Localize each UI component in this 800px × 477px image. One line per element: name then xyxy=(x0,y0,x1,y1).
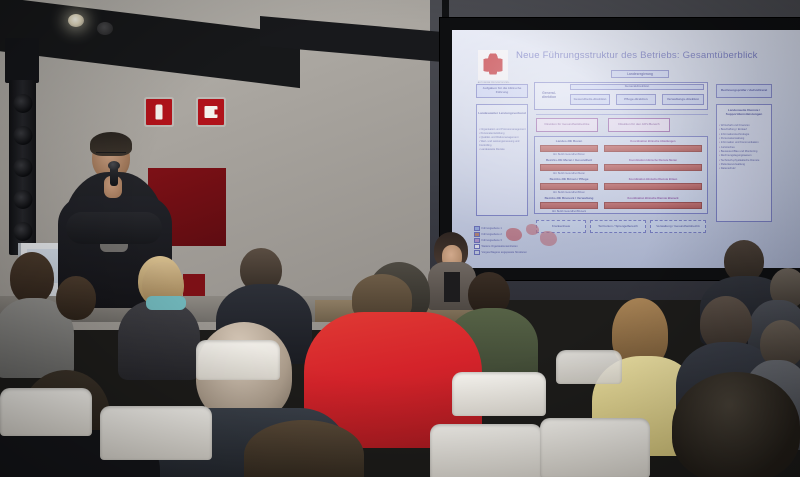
inner-top xyxy=(444,272,460,302)
slide-box-landesregierung: Landesregierung xyxy=(611,70,669,78)
slide-left-panel-header: Landesweiter Leistungsverbund xyxy=(477,106,527,122)
slide-generaldirektion-header: Generaldirektion xyxy=(570,84,704,90)
slide-row-0-right-label: Koordination klinische Abteilungen xyxy=(604,139,702,144)
slide-bottom-2: Verwaltung / Gesundheitsbezirk xyxy=(650,220,706,233)
slide-subdir-2: Verwaltungs-direktion xyxy=(662,94,704,105)
south-tyrol-eagle-crest xyxy=(478,50,508,80)
slide-right-header: Rechnungsprüfer / Aufsichtsrat xyxy=(716,84,772,98)
slide-bottom-1: Territorium / Sprengelbereich xyxy=(590,220,646,233)
chair[interactable] xyxy=(540,418,650,477)
slide-right-items: Wirtschaft und Finanzen Beschaffung / Ei… xyxy=(719,124,771,171)
teal-scarf xyxy=(146,296,186,310)
chair[interactable] xyxy=(0,388,92,436)
slide-row-0-label: Landes-OE Bozen xyxy=(540,139,598,144)
chair[interactable] xyxy=(452,372,546,416)
conference-room-photo: AUTONOME PROVINZ BOZEN - SÜDTIROL Neue F… xyxy=(0,0,800,477)
crest-block: AUTONOME PROVINZ BOZEN - SÜDTIROL xyxy=(478,50,508,84)
slide-row-3-label: Bezirks-OE Bruneck / Verwaltung xyxy=(540,196,598,201)
legend-label-1: Führungsebene 2 xyxy=(482,233,502,236)
slide-subdir-1: Pflege-direktion xyxy=(616,94,656,105)
slide-row-2-sublabel: Abt. Bezirk Gesundheit Brixen xyxy=(540,190,598,194)
slide-left-header: Aufgaben für die klinische Führung xyxy=(476,84,528,98)
slide-subdir-0: Gesundheits-direktion xyxy=(570,94,610,105)
slide-dept-0: Direktion für Gesundheitsbezirke xyxy=(536,118,598,132)
slide-dept-1: Direktion für den AOV-Bereich xyxy=(608,118,670,132)
slide-row-2-right-bar xyxy=(604,183,702,190)
glasses-icon xyxy=(96,152,126,158)
slide-row-2-label: Bezirks-OE Brixen / Pflege xyxy=(540,177,598,182)
slide-right-panel-header: Landesweite Dienste / Supportdienstleist… xyxy=(717,106,771,120)
slide-row-2-bar xyxy=(540,183,598,190)
slide-title: Neue Führungsstruktur des Betriebs: Gesa… xyxy=(516,50,798,62)
fire-hose-sign xyxy=(198,99,224,125)
slide-row-2-right-label: Koordination klinische Dienste Brixen xyxy=(604,177,702,182)
slide-row-3-right-bar xyxy=(604,202,702,209)
slide-row-1-sublabel: Abt. Bezirk Gesundheit Meran xyxy=(540,171,598,175)
slide-row-1-label: Bezirks-OE Meran / Gesundheit xyxy=(540,158,598,163)
legend-label-0: Führungsebene 1 xyxy=(482,227,502,230)
slide-row-1-right-bar xyxy=(604,164,702,171)
slide-row-0-sublabel: Abt. Bezirk Gesundheit Bozen xyxy=(540,152,598,156)
slide-row-1-right-label: Koordination klinische Dienste Meran xyxy=(604,158,702,163)
slide-row-3-bar xyxy=(540,202,598,209)
slide-row-3-sublabel: Abt. Bezirk Gesundheit Bruneck xyxy=(540,209,598,213)
loudspeaker-column xyxy=(9,80,36,255)
fire-extinguisher-sign xyxy=(146,99,172,125)
slide-row-0-bar xyxy=(540,145,598,152)
presentation-slide: AUTONOME PROVINZ BOZEN - SÜDTIROL Neue F… xyxy=(470,44,800,262)
chair[interactable] xyxy=(100,406,212,460)
chair[interactable] xyxy=(196,340,280,380)
projection-screen: AUTONOME PROVINZ BOZEN - SÜDTIROL Neue F… xyxy=(452,30,800,268)
slide-map-graphic xyxy=(506,222,560,252)
chair[interactable] xyxy=(430,424,542,477)
slide-left-items: Organisation und Prozessmanagement Perso… xyxy=(479,128,527,152)
slide-row-3-right-label: Koordination klinische Dienste Bruneck xyxy=(604,196,702,201)
chair[interactable] xyxy=(556,350,622,384)
slide-row-1-bar xyxy=(540,164,598,171)
ceiling-spotlight-on xyxy=(68,14,84,27)
ceiling-spotlight-off xyxy=(97,22,113,35)
loudspeaker-top xyxy=(5,38,39,83)
slide-row-0-right-bar xyxy=(604,145,702,152)
legend-label-2: Führungsebene 3 xyxy=(482,239,502,242)
slide-generaldirektion-label: General-direktion xyxy=(536,88,562,102)
